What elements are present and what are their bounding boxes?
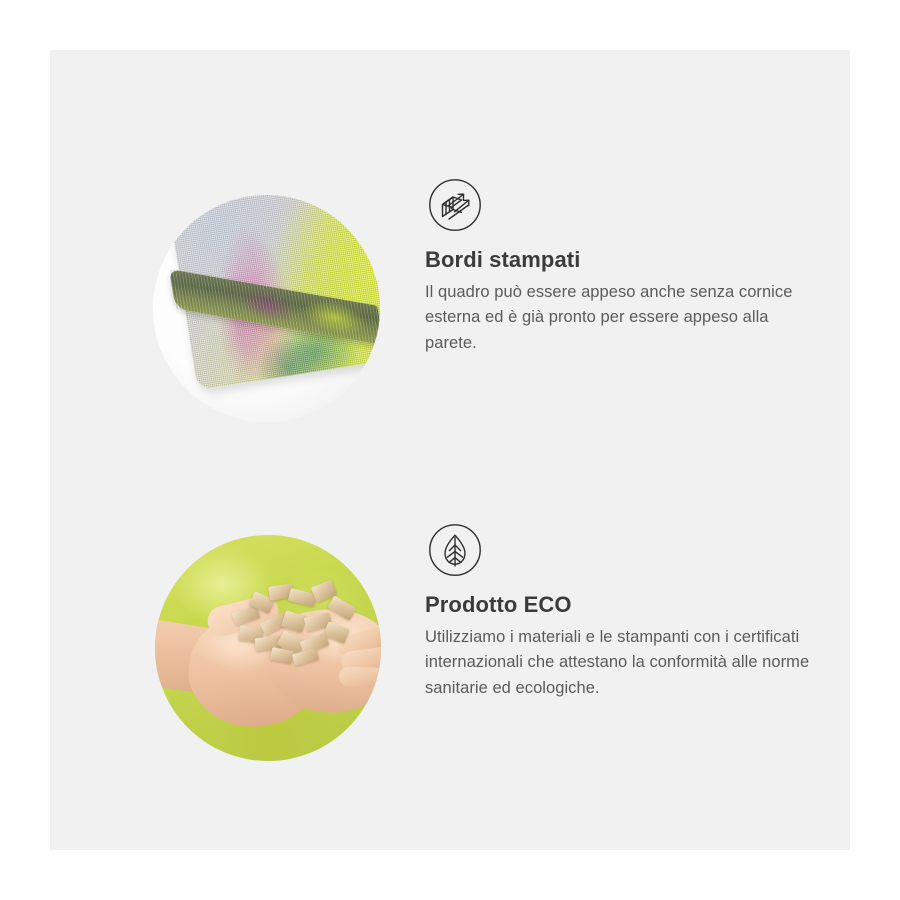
feature-description: Utilizziamo i materiali e le stampanti c…	[425, 625, 815, 702]
printed-edges-text: Bordi stampati Il quadro può essere appe…	[425, 246, 815, 356]
product-feature-page: Bordi stampati Il quadro può essere appe…	[0, 0, 900, 900]
leaf-icon	[428, 523, 482, 577]
hands-wood-chips-photo	[155, 535, 381, 761]
canvas-corner-photo	[153, 195, 380, 422]
feature-eco-product: Prodotto ECO Utilizziamo i materiali e l…	[50, 445, 850, 735]
canvas-edge-arrows-icon	[428, 178, 482, 232]
feature-printed-edges: Bordi stampati Il quadro può essere appe…	[50, 170, 850, 460]
feature-description: Il quadro può essere appeso anche senza …	[425, 280, 815, 357]
canvas-illustration	[153, 195, 380, 422]
feature-title: Prodotto ECO	[425, 591, 815, 619]
wood-chips-pile	[225, 579, 361, 665]
finger-shape	[339, 666, 381, 688]
content-panel: Bordi stampati Il quadro può essere appe…	[50, 50, 850, 850]
eco-product-text: Prodotto ECO Utilizziamo i materiali e l…	[425, 591, 815, 701]
feature-title: Bordi stampati	[425, 246, 815, 274]
